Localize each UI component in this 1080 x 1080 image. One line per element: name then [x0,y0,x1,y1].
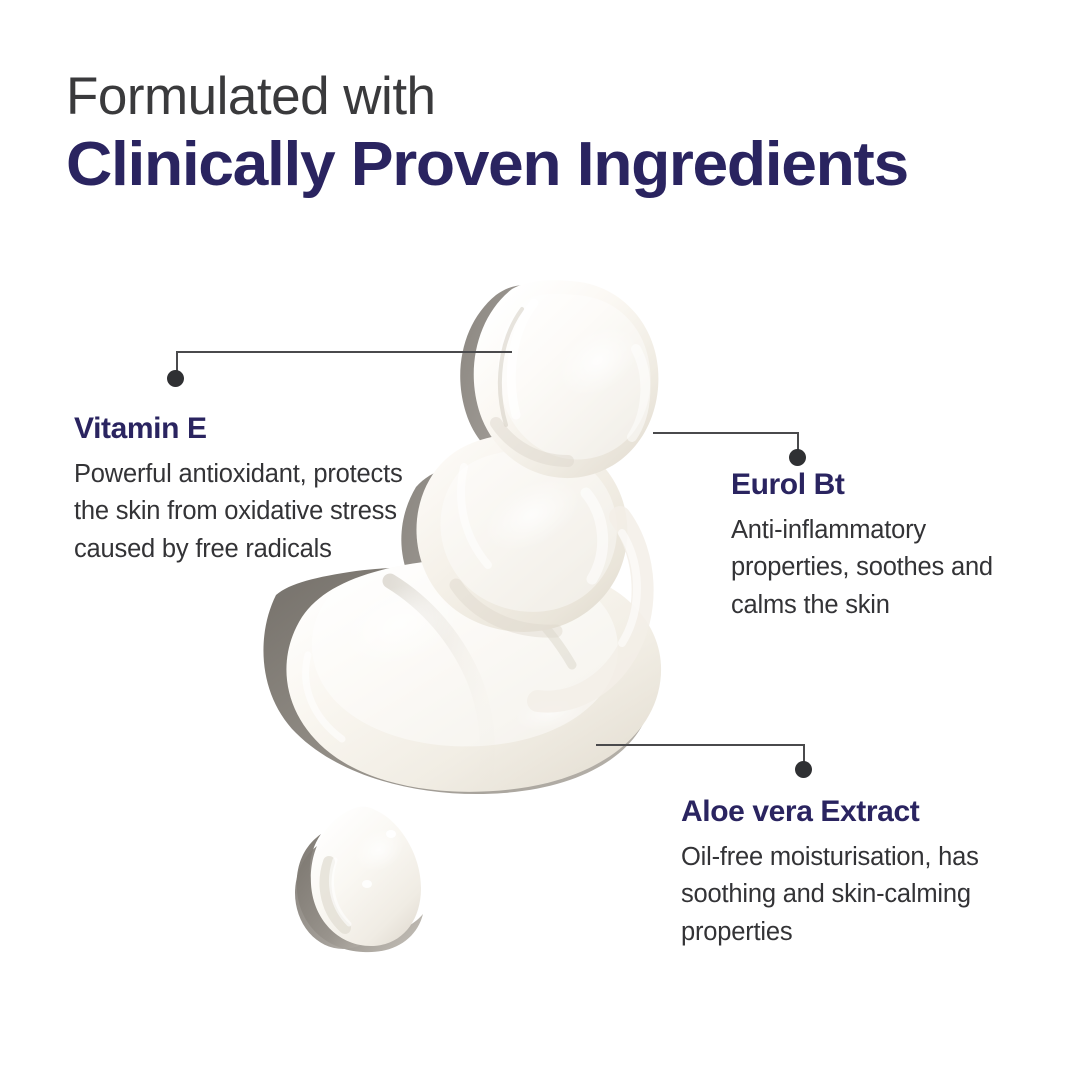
leader-dot-vitamin-e [167,370,184,387]
callout-title-eurol-bt: Eurol Bt [731,468,1006,503]
cream-droplet-image [283,798,433,963]
leader-dot-aloe-vera [795,761,812,778]
leader-vertical-segment [797,432,799,454]
callout-eurol-bt: Eurol Bt Anti-inflammatory properties, s… [731,468,1006,625]
leader-vertical-segment [176,351,178,373]
callout-vitamin-e: Vitamin E Powerful antioxidant, protects… [74,412,404,569]
leader-dot-eurol-bt [789,449,806,466]
callout-aloe-vera: Aloe vera Extract Oil-free moisturisatio… [681,795,1046,952]
callout-title-vitamin-e: Vitamin E [74,412,404,447]
infographic-canvas: Formulated with Clinically Proven Ingred… [0,0,1080,1080]
callout-title-aloe-vera: Aloe vera Extract [681,795,1046,830]
leader-vertical-segment [803,744,805,766]
headline-kicker: Formulated with [66,68,1026,125]
callout-body-vitamin-e: Powerful antioxidant, protects the skin … [74,456,404,569]
callout-body-aloe-vera: Oil-free moisturisation, has soothing an… [681,839,1046,952]
headline-main: Clinically Proven Ingredients [66,131,1060,199]
callout-body-eurol-bt: Anti-inflammatory properties, soothes an… [731,512,1006,625]
page-title: Formulated with Clinically Proven Ingred… [66,68,1026,199]
